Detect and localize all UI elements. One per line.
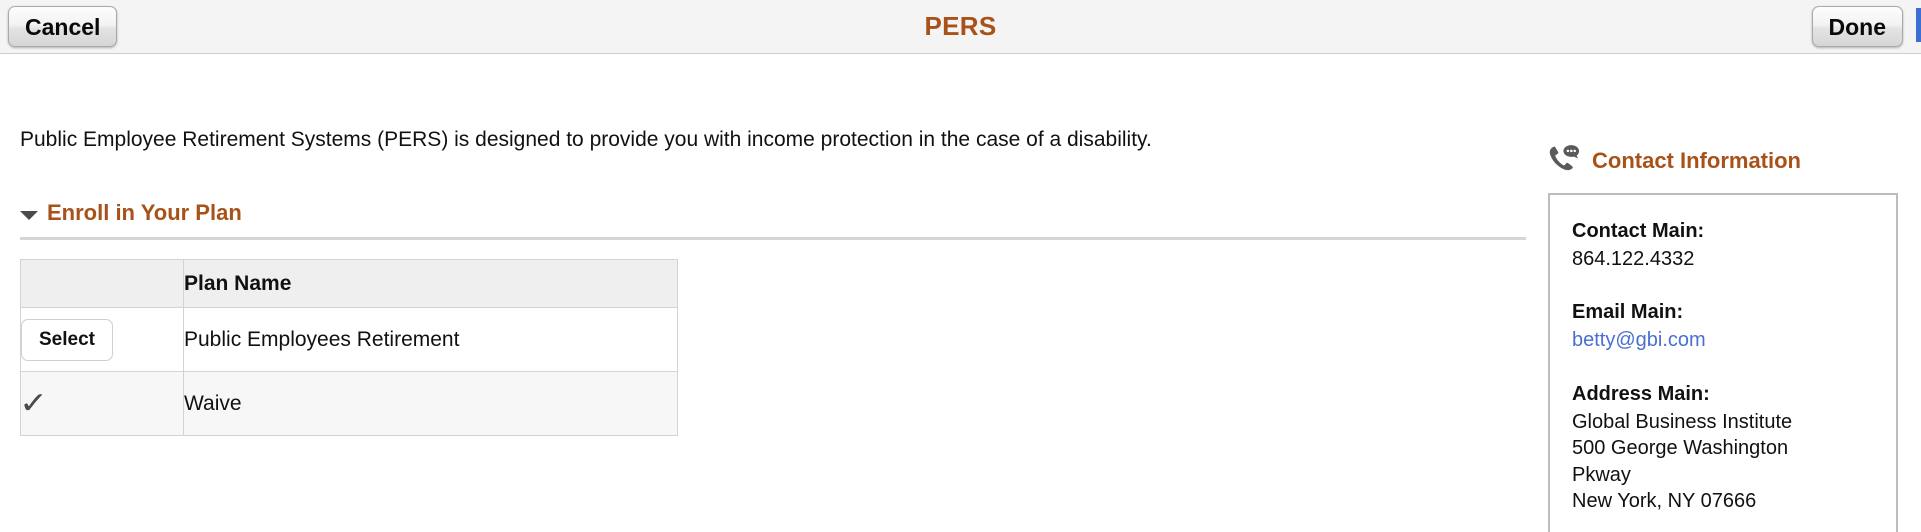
contact-field-email-main: Email Main: betty@gbi.com xyxy=(1572,298,1874,353)
phone-chat-icon xyxy=(1548,144,1582,177)
email-main-label: Email Main: xyxy=(1572,298,1874,327)
contact-main-value: 864.122.4332 xyxy=(1572,246,1874,272)
address-line-4: New York, NY 07666 xyxy=(1572,488,1874,514)
plan-table: Plan Name Select Public Employees Retire… xyxy=(20,259,678,436)
row-plan-name: Public Employees Retirement xyxy=(184,308,678,372)
plan-table-head: Plan Name xyxy=(21,260,678,308)
contact-field-contact-main: Contact Main: 864.122.4332 xyxy=(1572,217,1874,272)
row-plan-name: Waive xyxy=(184,372,678,436)
contact-information-panel: Contact Main: 864.122.4332 Email Main: b… xyxy=(1548,193,1898,532)
app-header: Cancel PERS Done xyxy=(0,0,1921,54)
section-title: Enroll in Your Plan xyxy=(47,200,242,226)
email-main-link[interactable]: betty@gbi.com xyxy=(1572,329,1706,351)
page-title: PERS xyxy=(0,11,1921,42)
section-header-enroll[interactable]: Enroll in Your Plan xyxy=(20,200,242,226)
table-header-row: Plan Name xyxy=(21,260,678,308)
page-body: Public Employee Retirement Systems (PERS… xyxy=(0,54,1921,532)
select-plan-button[interactable]: Select xyxy=(21,319,113,361)
section-divider xyxy=(20,237,1526,240)
done-button[interactable]: Done xyxy=(1812,6,1904,47)
contact-information-header: Contact Information xyxy=(1548,144,1801,177)
row-action-cell: ✓ xyxy=(21,372,184,436)
table-row: ✓ Waive xyxy=(21,372,678,436)
address-line-2: 500 George Washington xyxy=(1572,435,1874,461)
column-header-action xyxy=(21,260,184,308)
check-icon: ✓ xyxy=(19,389,48,419)
address-main-label: Address Main: xyxy=(1572,380,1874,409)
table-row: Select Public Employees Retirement xyxy=(21,308,678,372)
right-edge-strip[interactable] xyxy=(1916,8,1921,42)
intro-text: Public Employee Retirement Systems (PERS… xyxy=(20,128,1152,152)
contact-field-address-main: Address Main: Global Business Institute … xyxy=(1572,380,1874,515)
triangle-down-icon[interactable] xyxy=(20,211,38,220)
row-action-cell: Select xyxy=(21,308,184,372)
contact-information-title: Contact Information xyxy=(1592,148,1801,174)
contact-main-label: Contact Main: xyxy=(1572,217,1874,246)
address-line-1: Global Business Institute xyxy=(1572,409,1874,435)
plan-table-body: Select Public Employees Retirement ✓ Wai… xyxy=(21,308,678,436)
column-header-plan-name: Plan Name xyxy=(184,260,678,308)
address-line-3: Pkway xyxy=(1572,462,1874,488)
